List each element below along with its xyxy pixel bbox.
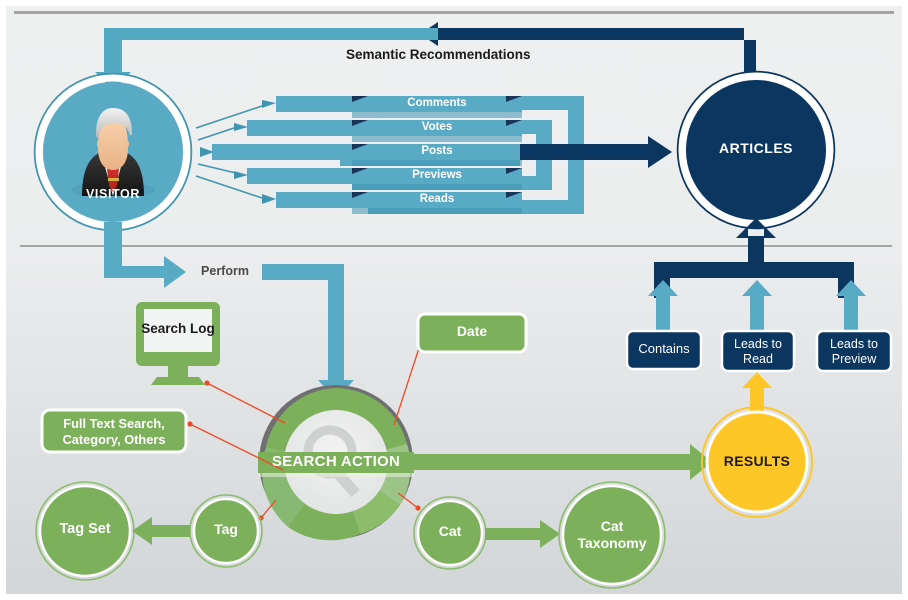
node-label-cat-taxonomy: Cat Taxonomy	[562, 518, 662, 552]
node-label-tag-set: Tag Set	[40, 522, 130, 537]
ribbon-label-posts: Posts	[376, 145, 498, 157]
semantic-recommendations-label: Semantic Recommendations	[346, 48, 528, 62]
node-label-cat: Cat	[415, 524, 485, 539]
relation-label-leads-to-preview: Leads to Preview	[817, 337, 891, 366]
diagram-graphics	[0, 0, 908, 600]
full-text-chip-label: Full Text Search, Category, Others	[44, 416, 184, 447]
ribbon-label-previews: Previews	[376, 169, 498, 181]
relation-label-leads-to-read: Leads to Read	[722, 337, 794, 366]
node-label-tag: Tag	[191, 522, 261, 537]
search-log-label: Search Log	[140, 322, 216, 336]
relation-label-contains: Contains	[627, 342, 701, 356]
articles-label: ARTICLES	[706, 141, 806, 156]
perform-label: Perform	[190, 265, 260, 278]
visitor-label: VISITOR	[63, 188, 163, 201]
diagram-canvas: Semantic Recommendations VISITOR ARTICLE…	[0, 0, 908, 600]
results-label: RESULTS	[707, 454, 807, 469]
ribbon-label-comments: Comments	[376, 97, 498, 109]
date-chip-label: Date	[418, 324, 526, 339]
ribbon-label-votes: Votes	[376, 121, 498, 133]
ribbon-label-reads: Reads	[376, 193, 498, 205]
search-action-label: SEARCH ACTION	[258, 454, 414, 470]
